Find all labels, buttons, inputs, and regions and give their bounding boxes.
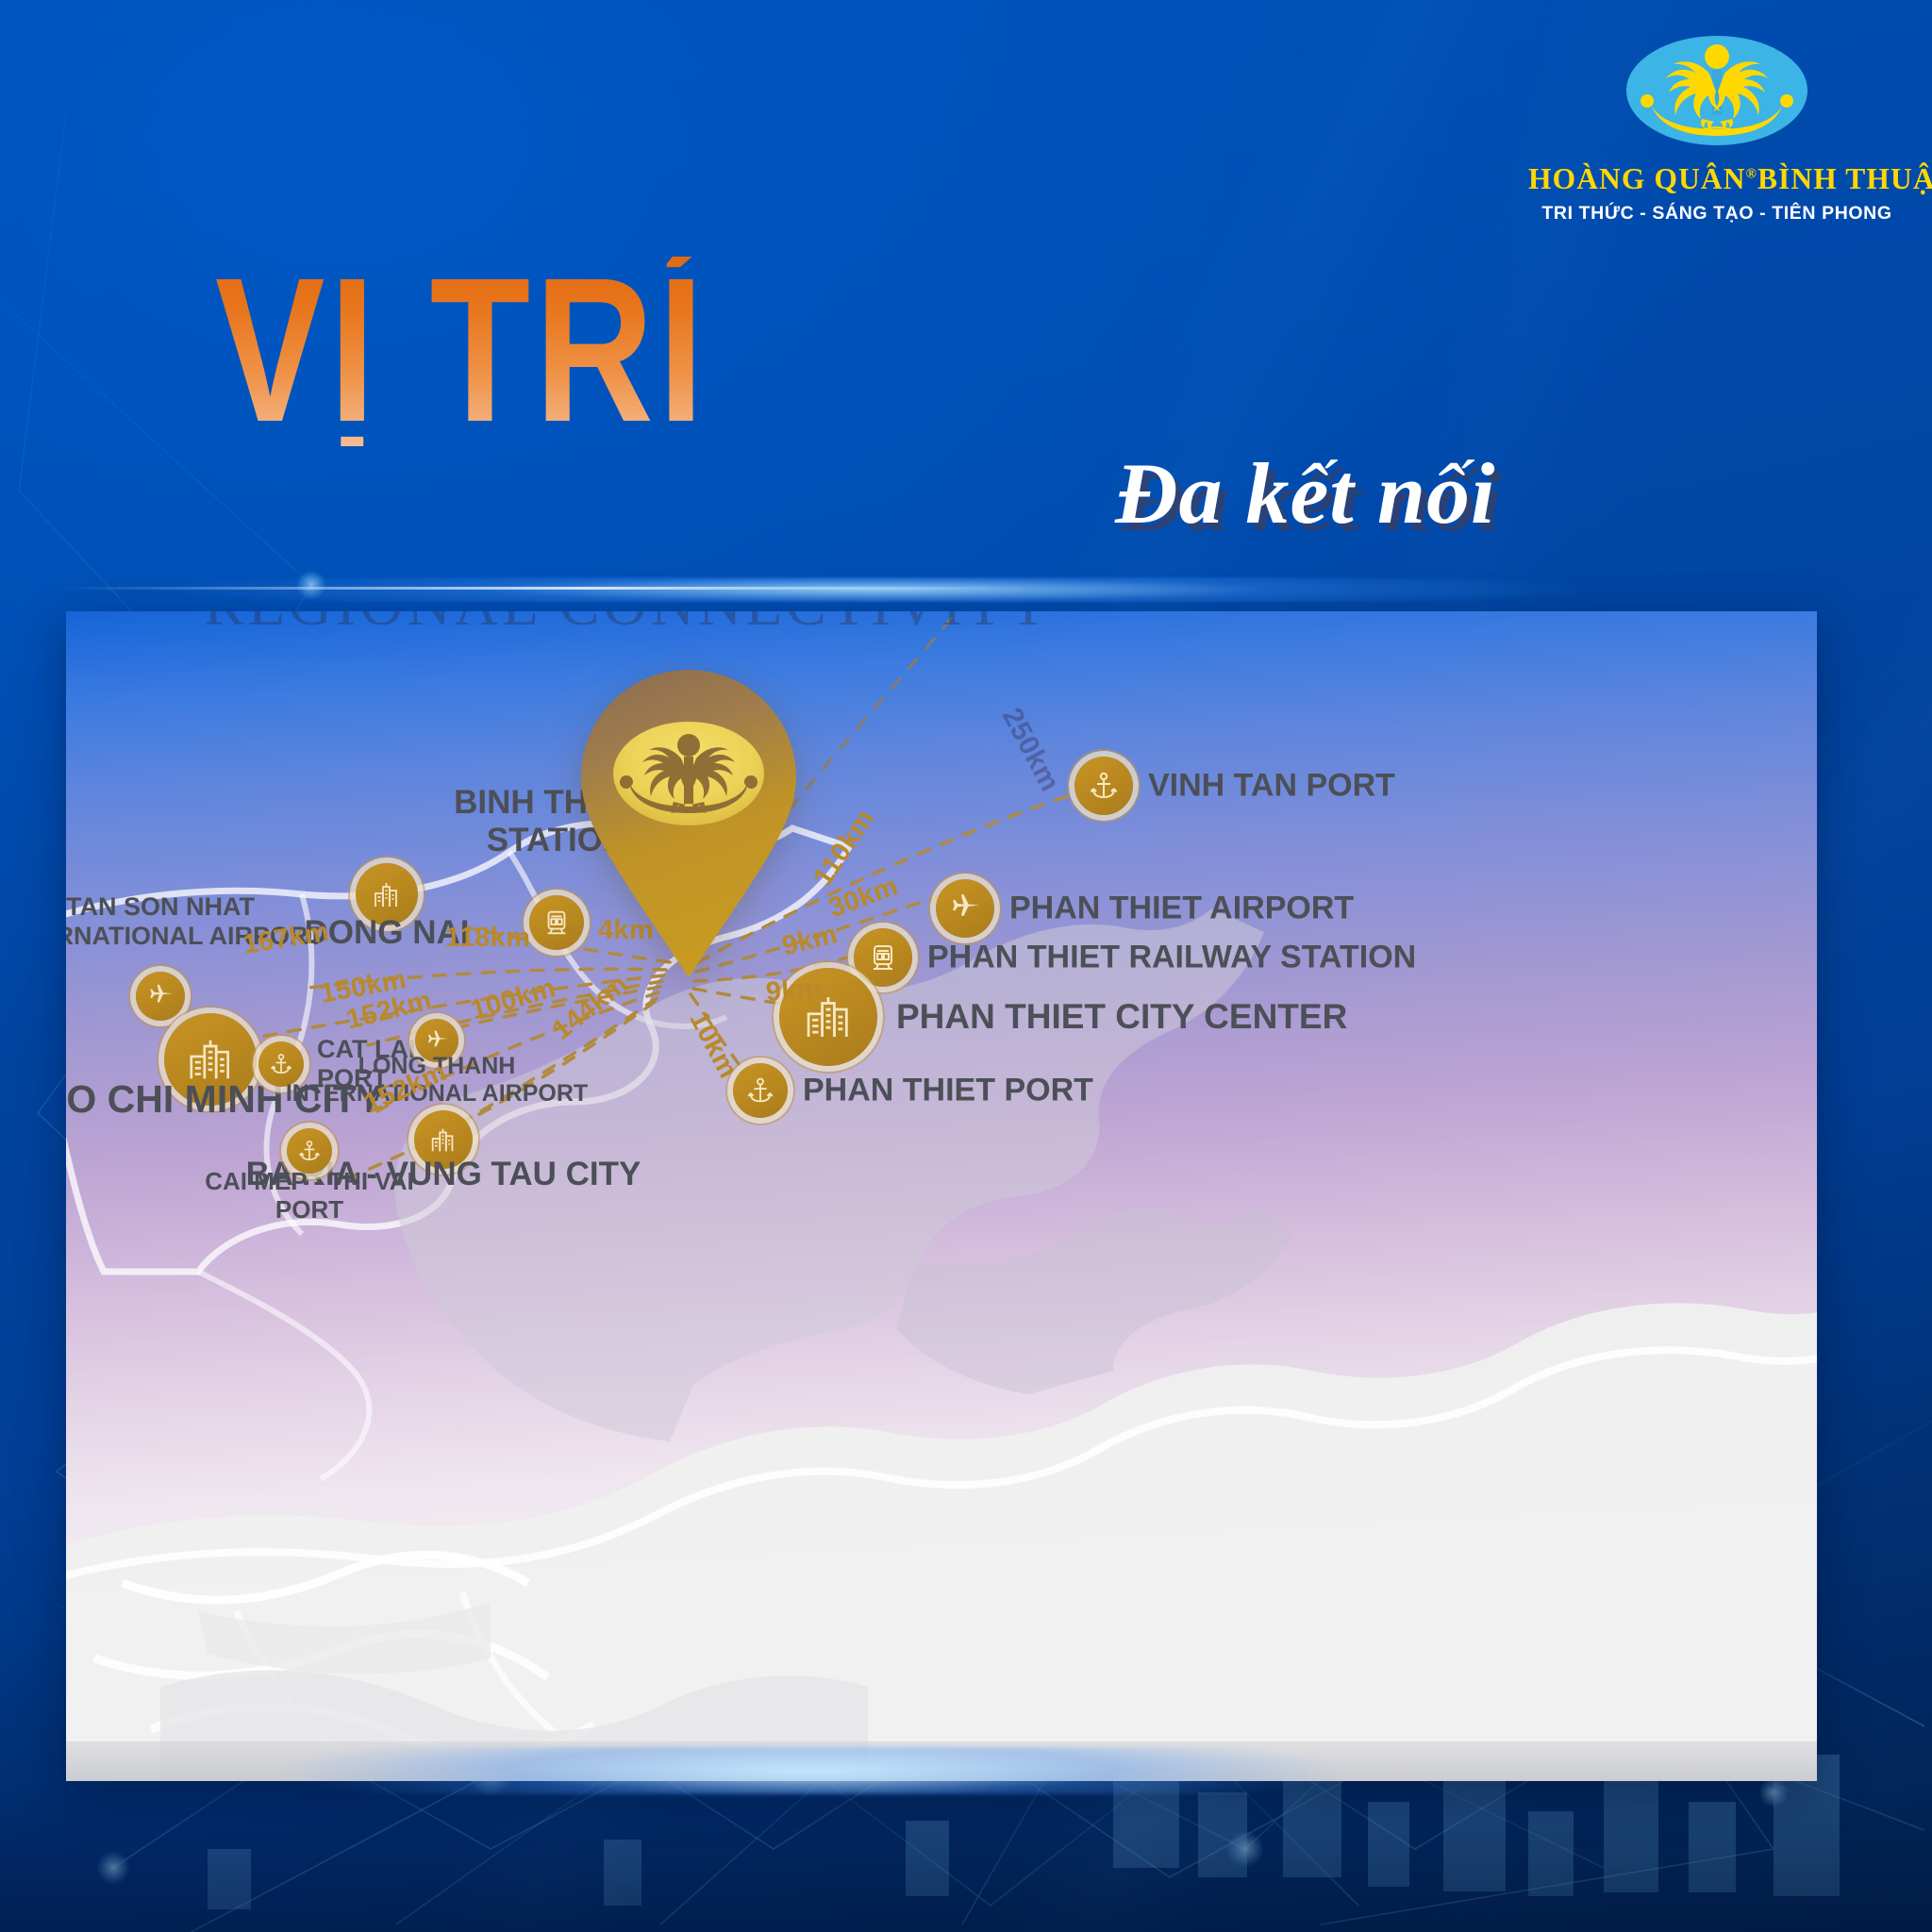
anchor-icon — [733, 1063, 788, 1118]
twin-dragon-emblem-icon — [570, 668, 808, 979]
node-label: PHAN THIET PORT — [803, 1073, 1093, 1109]
header-divider-line — [57, 587, 1028, 590]
page-subtitle: Đa kết nối — [1115, 443, 1496, 543]
brand-name-main: HOÀNG QUÂN — [1528, 162, 1746, 195]
node-cai-mep-thi-vai[interactable]: CAI MEP - THI VAI PORT — [287, 1128, 332, 1174]
plane-icon — [936, 879, 994, 938]
panel-bottom-glow — [142, 1747, 1481, 1794]
distance-dong-nai: 118km — [445, 923, 530, 954]
panel-heading: REGIONAL CONNECTIVITY — [121, 611, 1054, 640]
twin-dragon-emblem-icon — [1619, 32, 1815, 153]
brand-name-suffix: BÌNH THUẬN — [1757, 162, 1932, 195]
project-location-pin[interactable] — [570, 668, 808, 979]
brand-logo: HOÀNG QUÂN®BÌNH THUẬN TRI THỨC - SÁNG TẠ… — [1528, 32, 1906, 225]
node-ho-chi-minh[interactable]: HO CHI MINH CITY — [164, 1013, 257, 1106]
node-label: CAI MEP - THI VAI PORT — [205, 1168, 414, 1224]
node-label: VINH TAN PORT — [1148, 768, 1395, 805]
node-label: PHAN THIET AIRPORT — [1009, 891, 1354, 927]
node-phan-thiet-port[interactable]: PHAN THIET PORT — [733, 1063, 788, 1118]
brand-slogan: TRI THỨC - SÁNG TẠO - TIÊN PHONG — [1528, 203, 1906, 225]
node-ba-ria-vung-tau[interactable]: BA RIA - VUNG TAU CITY — [414, 1110, 473, 1169]
slide-canvas: HOÀNG QUÂN®BÌNH THUẬN TRI THỨC - SÁNG TẠ… — [0, 0, 1932, 1932]
brand-registered-mark: ® — [1746, 167, 1757, 182]
node-label: PHAN THIET CITY CENTER — [896, 997, 1347, 1037]
node-label-line1: TAN SON NHAT — [66, 892, 255, 921]
connectivity-map-panel: REGIONAL CONNECTIVITY NHA TRANG 250km — [66, 611, 1817, 1781]
page-title: VỊ TRÍ — [215, 257, 708, 446]
heading-text: REGIONAL CONNECTIVITY — [204, 611, 1054, 640]
node-phan-thiet-airport[interactable]: PHAN THIET AIRPORT — [936, 879, 994, 938]
node-long-thanh[interactable]: LONG THANH INTERNATIONAL AIRPORT — [415, 1019, 458, 1062]
node-vinh-tan-port[interactable]: VINH TAN PORT — [1074, 757, 1133, 815]
brand-name: HOÀNG QUÂN®BÌNH THUẬN — [1528, 162, 1906, 196]
node-label-line1: CAI MEP - THI VAI — [205, 1167, 414, 1195]
anchor-icon — [1074, 757, 1133, 815]
node-label: PHAN THIET RAILWAY STATION — [927, 940, 1416, 976]
node-dong-nai[interactable]: DONG NAI — [356, 863, 418, 925]
header-divider-glow — [28, 577, 1906, 602]
node-label-line2: PORT — [275, 1195, 343, 1224]
